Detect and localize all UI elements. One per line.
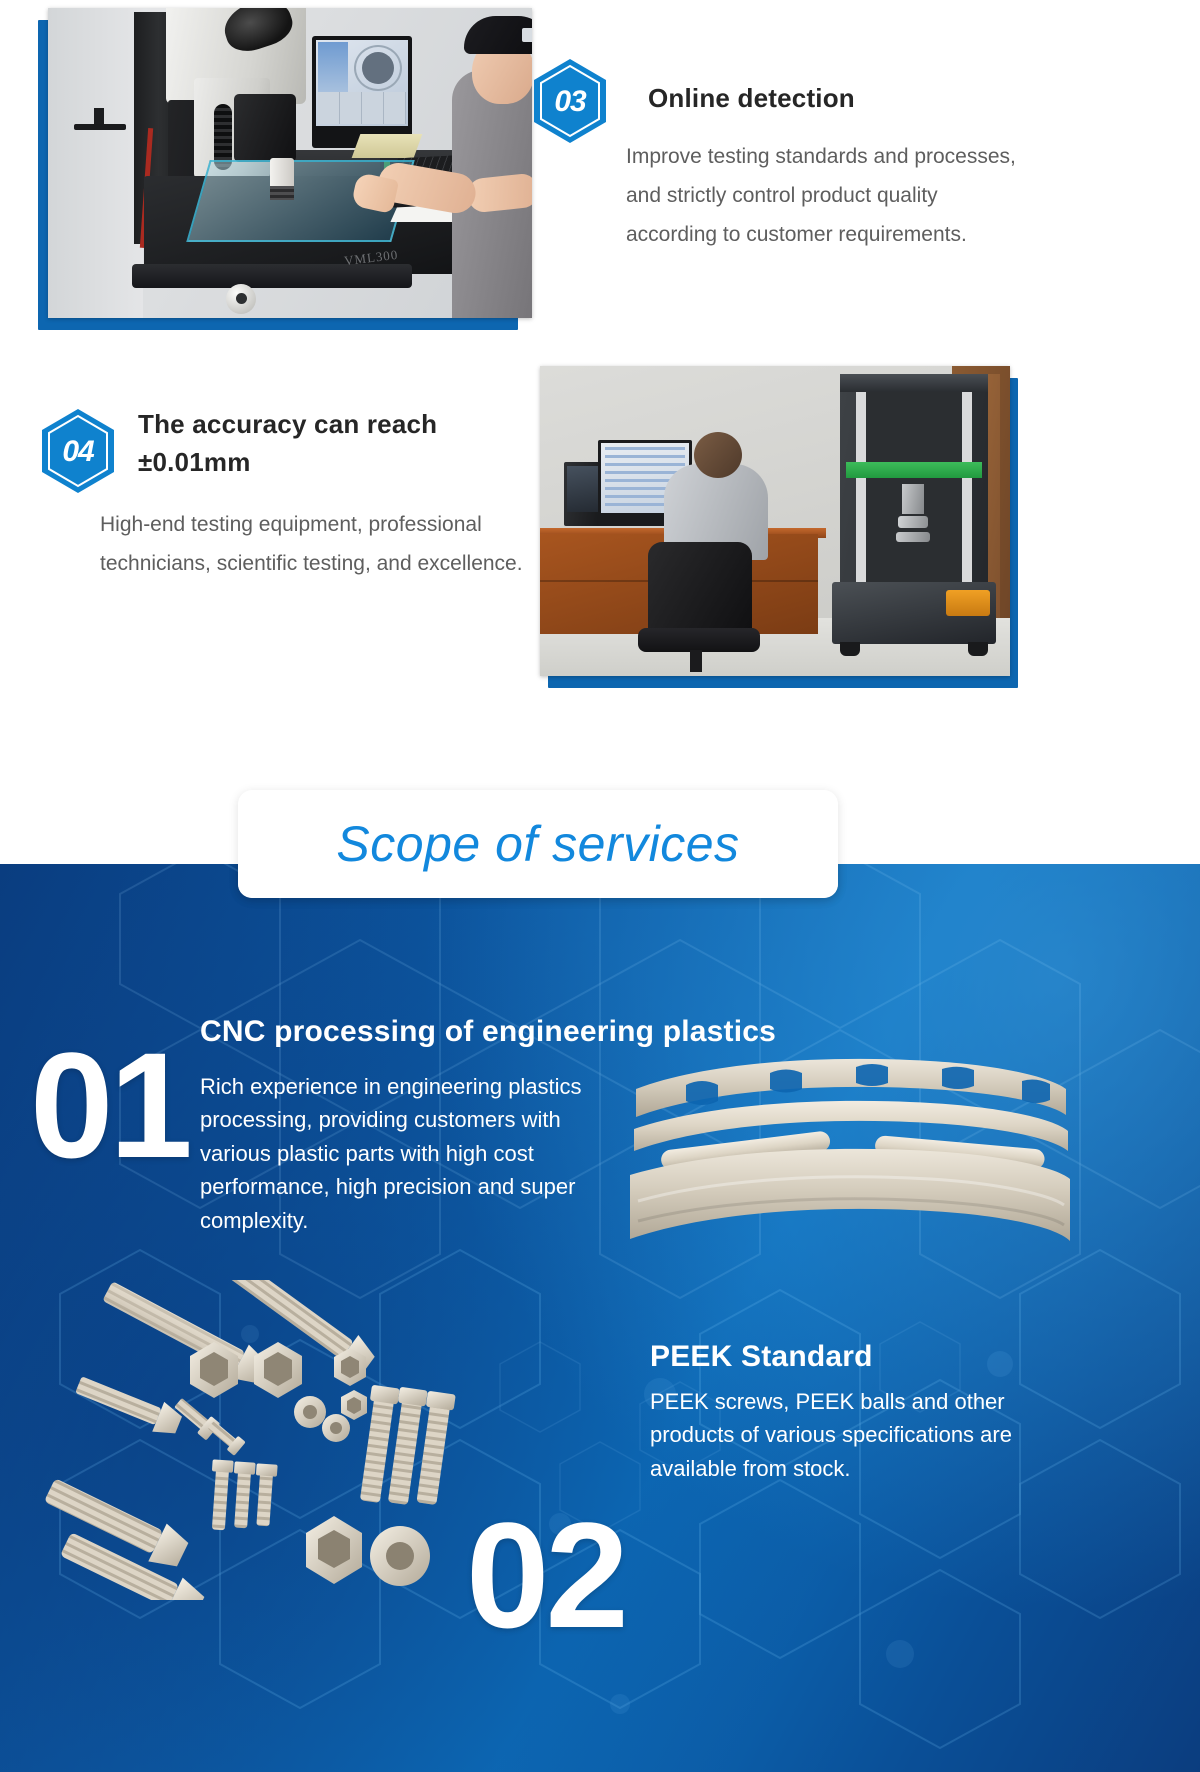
scene-optical-projector: VML300	[48, 8, 532, 318]
feature-body-03: Improve testing standards and processes,…	[626, 138, 1016, 255]
feature-photo-accuracy	[540, 366, 1018, 688]
features-section: VML300 03 Online detection Improve test	[0, 0, 1200, 864]
feature-title-04: The accuracy can reach ±0.01mm	[138, 406, 498, 481]
marketing-page: VML300 03 Online detection Improve test	[0, 0, 1200, 1772]
feature-photo-online-detection: VML300	[38, 8, 532, 328]
feature-badge-number: 03	[532, 58, 608, 144]
feature-title-03: Online detection	[648, 80, 978, 118]
scene-tensile-tester	[540, 366, 1010, 676]
photo-image-online-detection: VML300	[48, 8, 532, 318]
scope-heading-card: Scope of services	[238, 790, 838, 898]
feature-badge-04: 04	[40, 408, 116, 494]
hexagon-network-pattern	[0, 864, 1200, 1772]
scope-of-services-section: Scope of services	[0, 864, 1200, 1772]
feature-body-04: High-end testing equipment, professional…	[100, 506, 530, 584]
photo-image-accuracy	[540, 366, 1010, 676]
feature-badge-number: 04	[40, 408, 116, 494]
feature-badge-03: 03	[532, 58, 608, 144]
scope-heading-label: Scope of services	[336, 815, 739, 873]
